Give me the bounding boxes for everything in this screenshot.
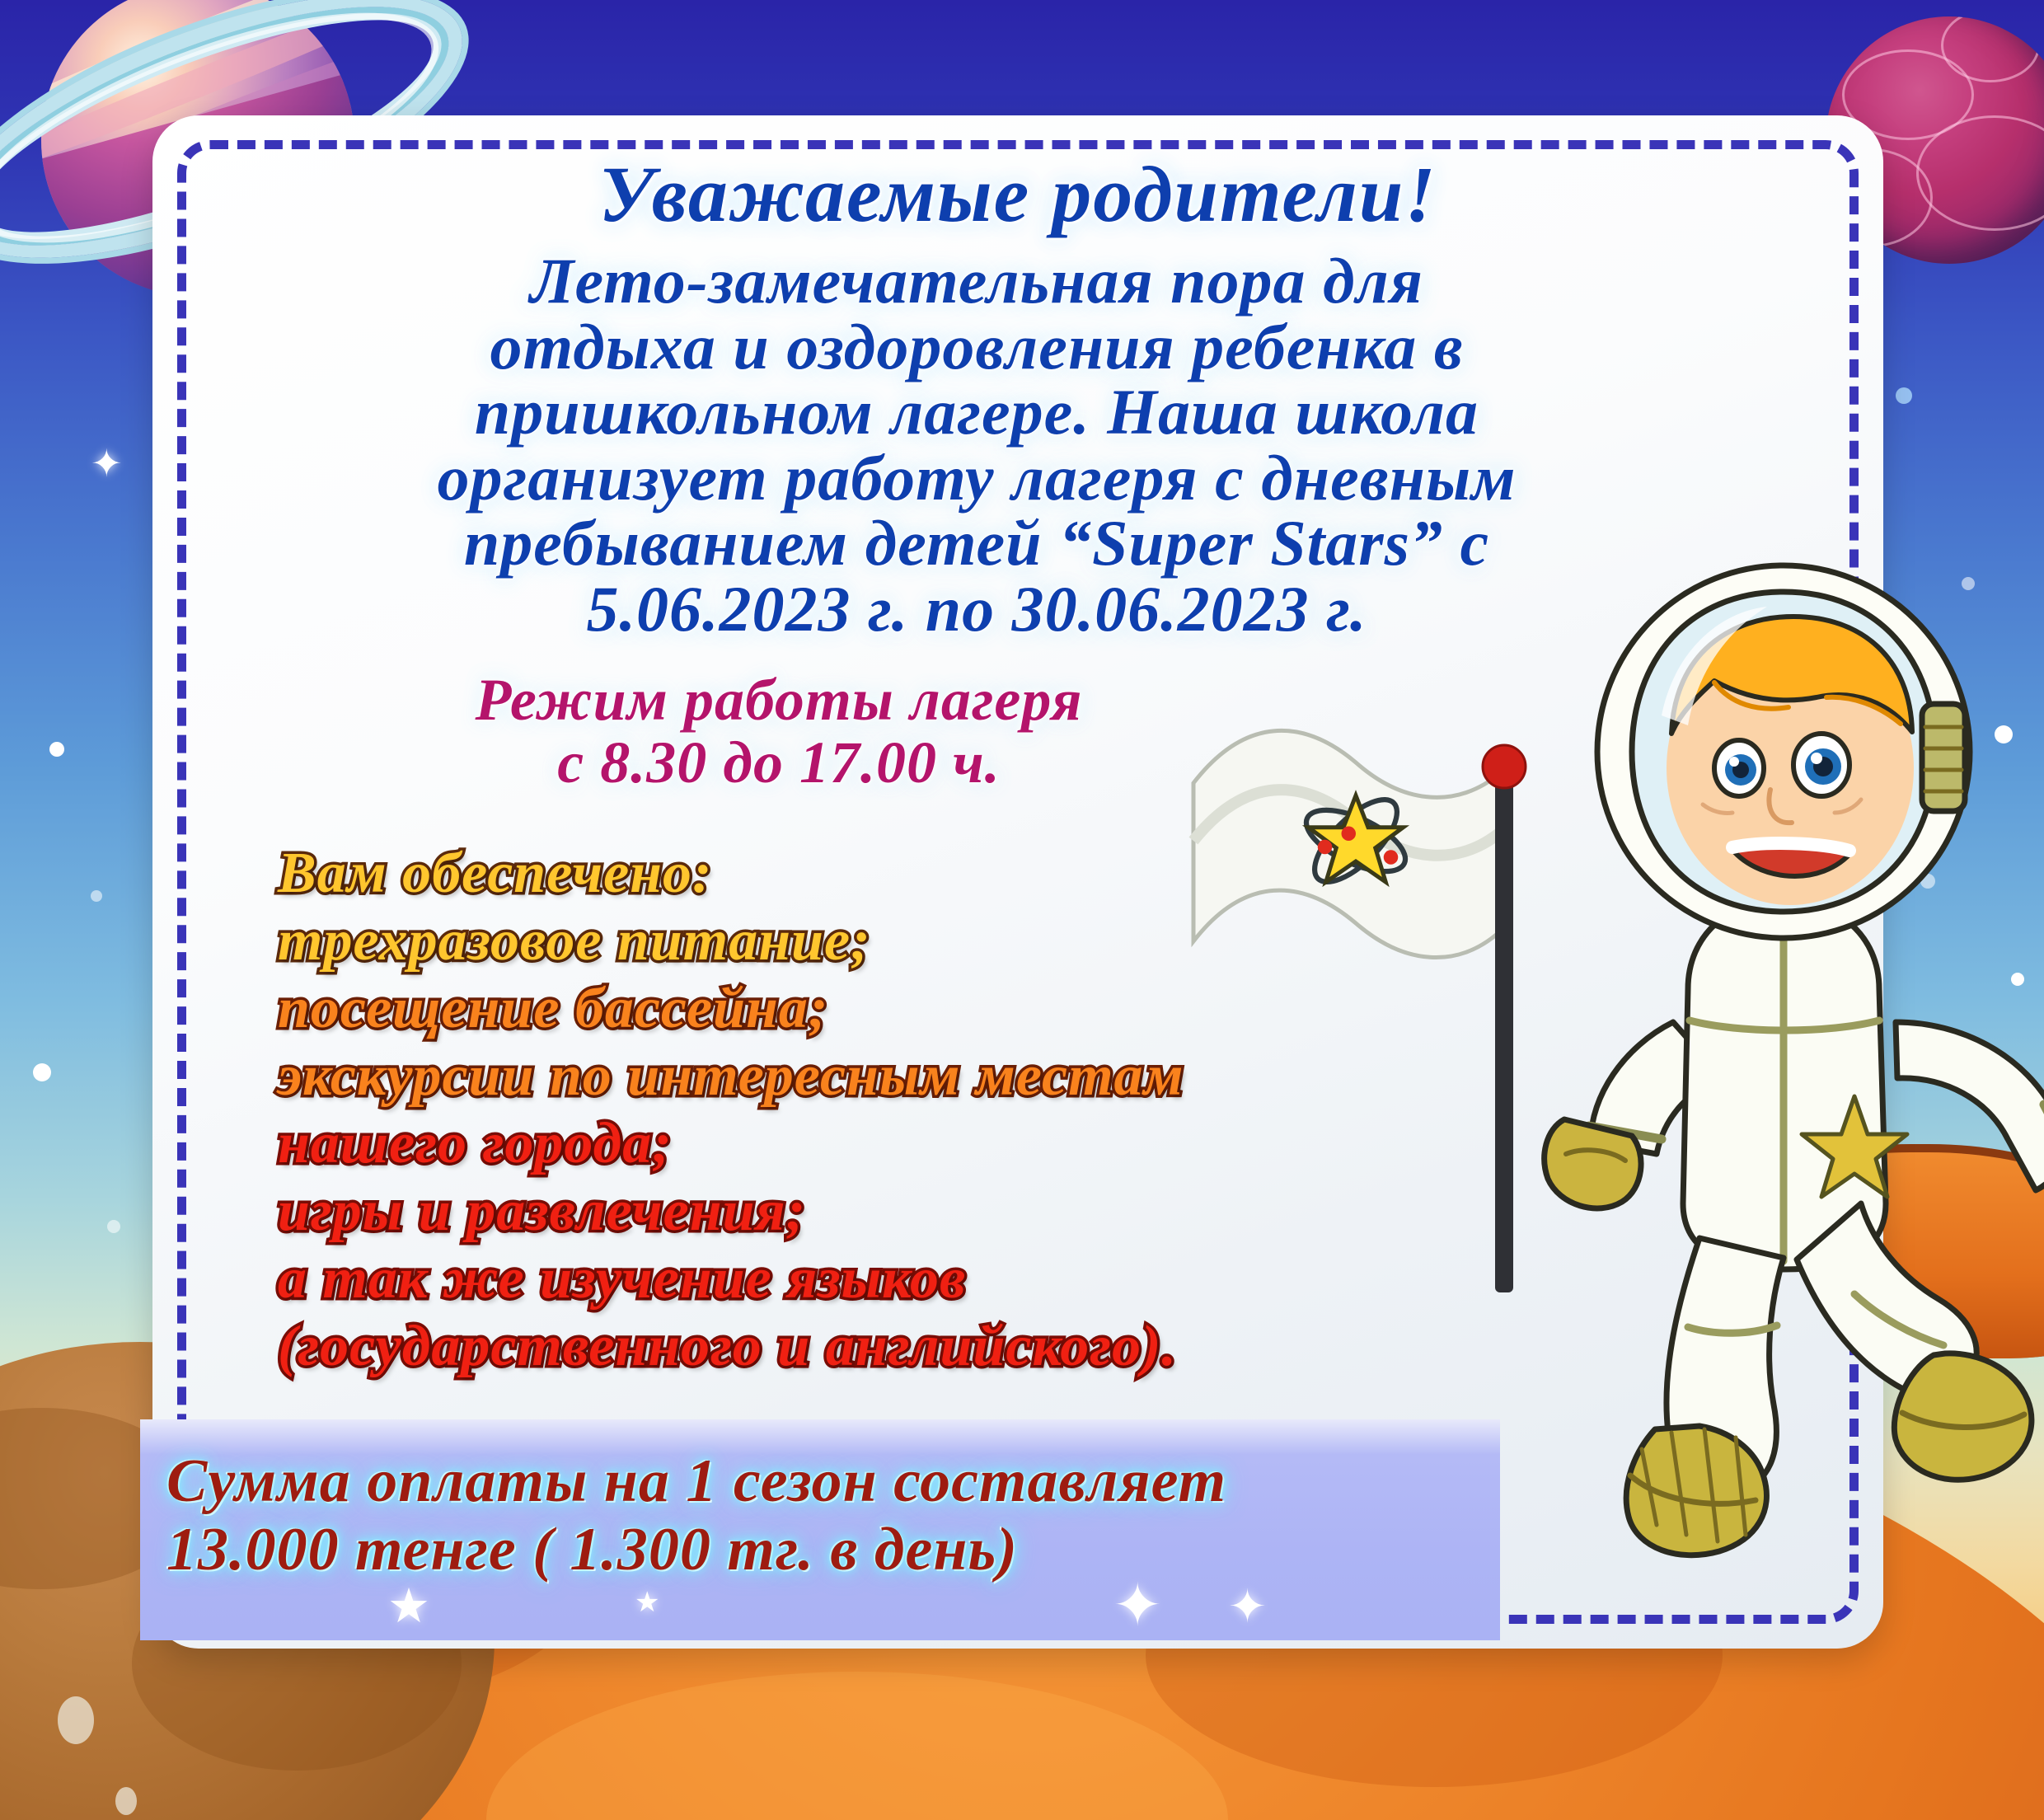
benefits-list: Вам обеспечено: трехразовое питание; пос… [202,840,1834,1380]
payment-line-season: Сумма оплаты на 1 сезон составляет [166,1447,1500,1516]
sparkle-icon: ✦ [1113,1576,1162,1635]
intro-line: Лето-замечательная пора для [391,248,1562,314]
intro-line: 5.06.2023 г. по 30.06.2023 г. [391,576,1562,642]
schedule-line: с 8.30 до 17.00 ч. [317,732,1240,795]
benefit-item-trips: экскурсии по интересным местам [278,1043,1834,1110]
page-title: Уважаемые родители! [202,148,1834,240]
sparkle-icon: ✦ [91,445,123,483]
schedule-block: Режим работы лагеря с 8.30 до 17.00 ч. [202,669,1834,794]
intro-line: пришкольном лагере. Наша школа [391,379,1562,445]
sparkle-icon: ✦ [1228,1584,1267,1630]
intro-line: организует работу лагеря с дневным [391,445,1562,511]
star-dot [107,1220,120,1233]
intro-paragraph: Лето-замечательная пора для отдыха и озд… [202,248,1834,641]
star-dot [1896,387,1912,404]
star-dot [33,1063,51,1081]
benefits-title: Вам обеспечено: [278,840,1834,908]
intro-line: пребыванием детей “Super Stars” с [391,510,1562,576]
schedule-line: Режим работы лагеря [317,669,1240,732]
benefit-item-trips-2: нашего города; [278,1110,1834,1178]
star-icon: ★ [387,1583,430,1630]
star-dot [91,890,102,902]
star-dot [49,742,64,757]
benefit-item-meals: трехразовое питание; [278,908,1834,975]
payment-line-amount: 13.000 тенге ( 1.300 тг. в день) [166,1516,1500,1584]
poster-canvas: ✦ ✦ ✦ ✧ ✧ ✧ [0,0,2044,1820]
poster-content: Уважаемые родители! Лето-замечательная п… [152,115,1883,1649]
star-icon: ★ [635,1589,659,1617]
benefit-item-pool: посещение бассейна; [278,975,1834,1043]
benefit-item-languages-2: (государственного и английского). [278,1313,1834,1381]
benefit-item-languages: а так же изучение языков [278,1245,1834,1313]
benefit-item-games: игры и развлечения; [278,1178,1834,1245]
intro-line: отдыха и оздоровления ребенка в [391,314,1562,380]
payment-box: Сумма оплаты на 1 сезон составляет 13.00… [140,1419,1500,1640]
